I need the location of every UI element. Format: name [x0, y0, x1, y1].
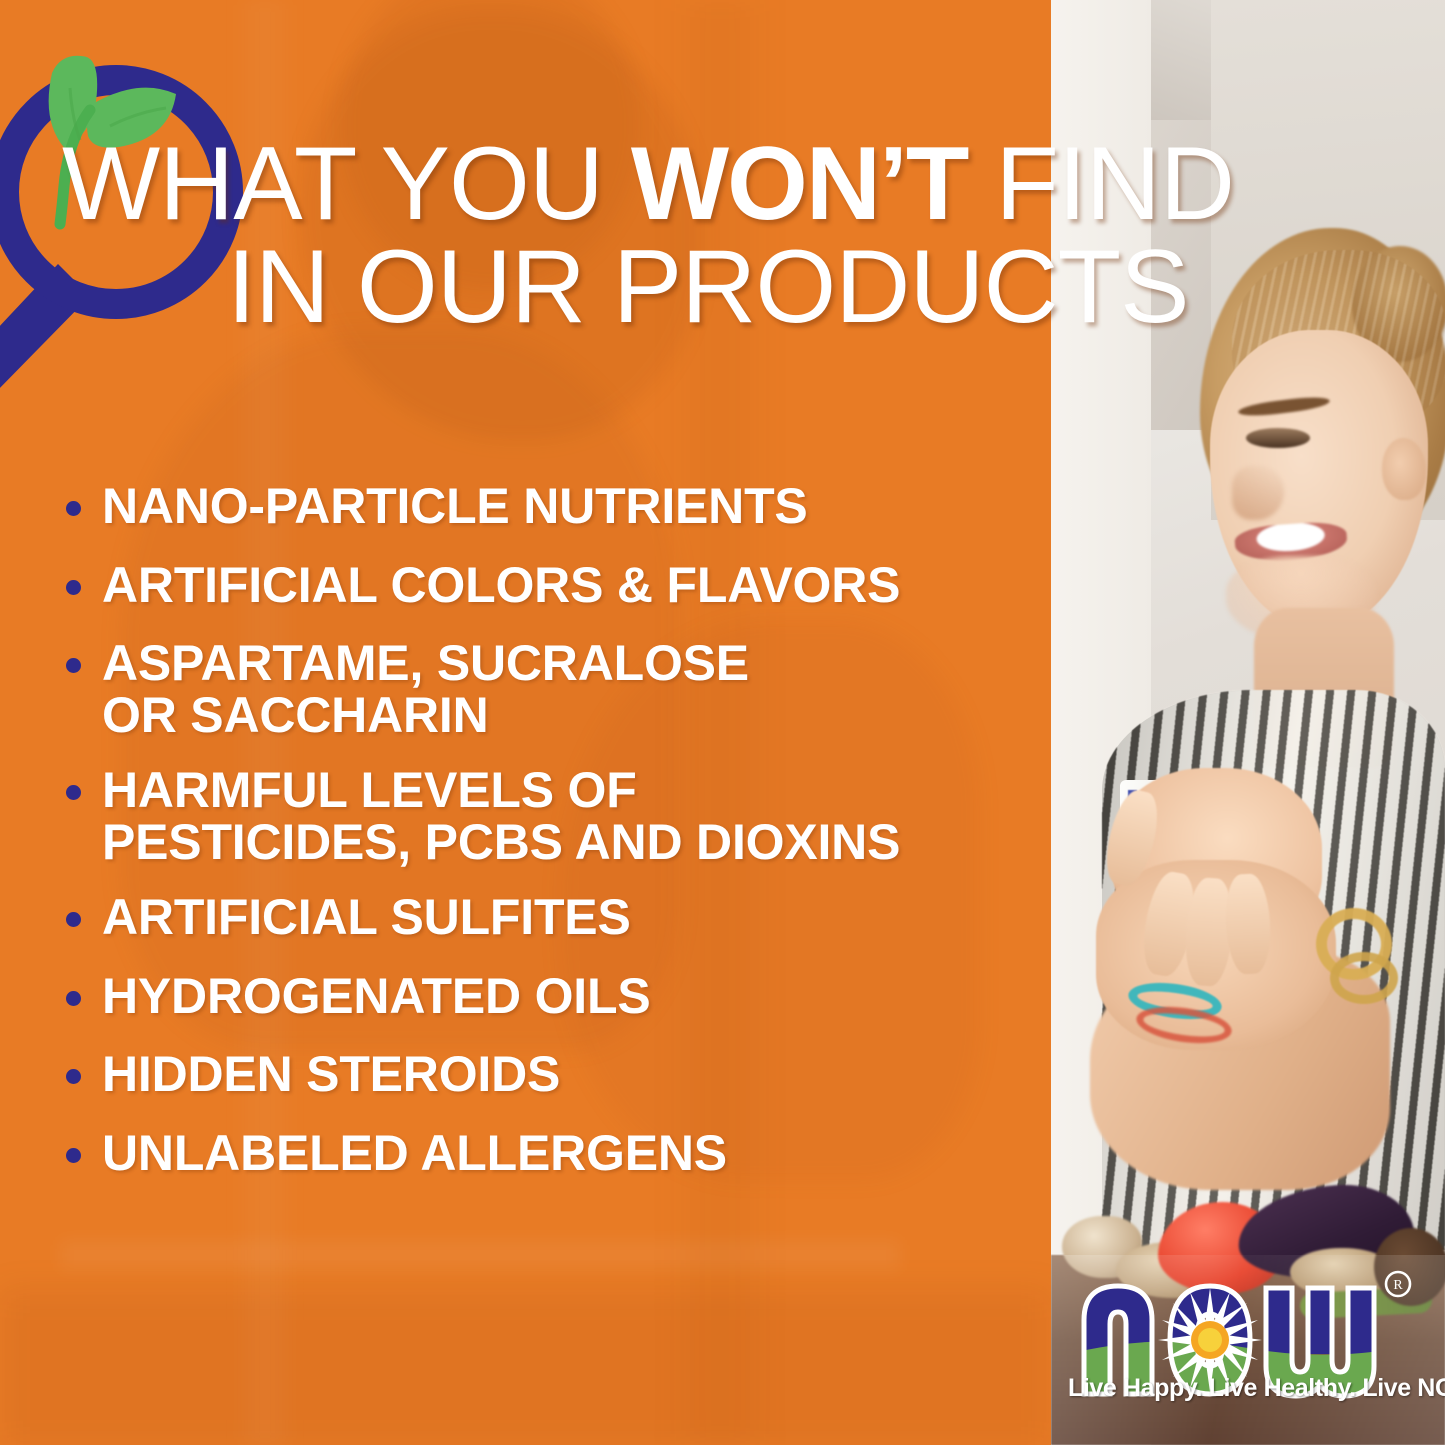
bullet-dot [66, 580, 81, 595]
list-item: NANO-PARTICLE NUTRIENTS [66, 481, 1046, 533]
list-item: HIDDEN STEROIDS [66, 1049, 1046, 1101]
list-item: HARMFUL LEVELS OF PESTICIDES, PCBS AND D… [66, 765, 1046, 868]
headline-line-2: IN OUR PRODUCTS [62, 236, 1402, 339]
bullet-dot [66, 501, 81, 516]
bullet-dot [66, 912, 81, 927]
list-item-label: ASPARTAME, SUCRALOSE OR SACCHARIN [102, 638, 749, 741]
list-item: ARTIFICIAL SULFITES [66, 892, 1046, 944]
bullet-dot [66, 1148, 81, 1163]
list-item-label: ARTIFICIAL SULFITES [102, 892, 631, 944]
list-item-label: NANO-PARTICLE NUTRIENTS [102, 481, 808, 533]
list-item-label: HARMFUL LEVELS OF PESTICIDES, PCBS AND D… [102, 765, 900, 868]
svg-text:R: R [1393, 1278, 1403, 1293]
sun-core [1198, 1328, 1222, 1352]
headline-emphasis: WON’T [631, 126, 968, 242]
list-item: HYDROGENATED OILS [66, 971, 1046, 1023]
list-item-label: HYDROGENATED OILS [102, 971, 650, 1023]
poster-canvas: WHAT YOU WON’T FIND IN OUR PRODUCTS NANO… [0, 0, 1445, 1445]
ghost-counter [0, 1290, 1051, 1445]
list-item-label: HIDDEN STEROIDS [102, 1049, 560, 1101]
brand-tagline: Live Happy. Live Healthy. Live NOW. [1068, 1374, 1428, 1403]
list-item-label: ARTIFICIAL COLORS & FLAVORS [102, 560, 900, 612]
registered-trademark-icon: R [1386, 1272, 1410, 1296]
headline-part-a: WHAT YOU [62, 126, 631, 242]
bullet-dot [66, 991, 81, 1006]
headline-part-c: FIND [967, 126, 1234, 242]
page-title: WHAT YOU WON’T FIND IN OUR PRODUCTS [62, 133, 1402, 339]
bullet-dot [66, 658, 81, 673]
exclusions-list: NANO-PARTICLE NUTRIENTS ARTIFICIAL COLOR… [66, 481, 1046, 1206]
headline-line-1: WHAT YOU WON’T FIND [62, 133, 1402, 236]
list-item-label: UNLABELED ALLERGENS [102, 1128, 727, 1180]
gold-bracelet [1330, 952, 1398, 1004]
list-item: ARTIFICIAL COLORS & FLAVORS [66, 560, 1046, 612]
list-item: ASPARTAME, SUCRALOSE OR SACCHARIN [66, 638, 1046, 741]
eye [1246, 428, 1310, 448]
ear [1382, 438, 1426, 500]
list-item: UNLABELED ALLERGENS [66, 1128, 1046, 1180]
bullet-dot [66, 1069, 81, 1084]
bullet-dot [66, 785, 81, 800]
